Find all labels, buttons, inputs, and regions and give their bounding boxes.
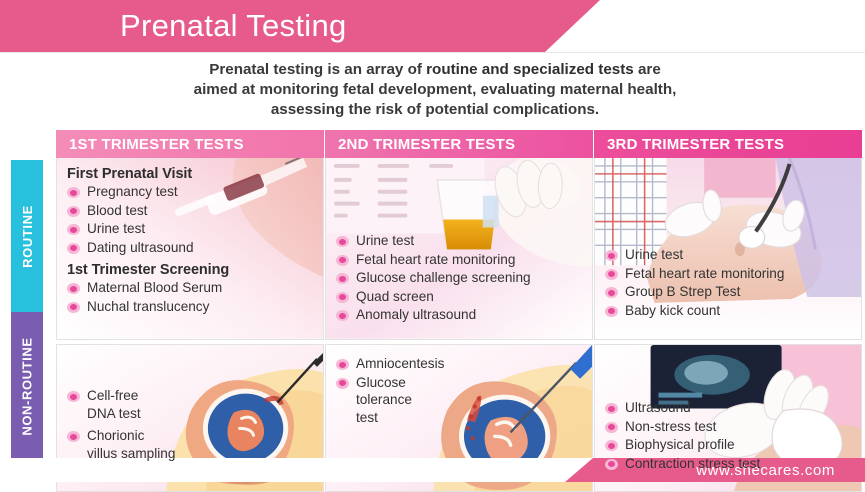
list-item-label: Blood test — [87, 203, 147, 218]
list-item: Quad screen — [336, 288, 592, 306]
page-header-banner: Prenatal Testing — [0, 0, 600, 52]
list-item-label: Pregnancy test — [87, 184, 178, 199]
column-second-trimester: 2ND TRIMESTER TESTS — [325, 130, 593, 492]
column-header-second-trimester: 2ND TRIMESTER TESTS — [325, 130, 593, 158]
list-item: Contraction stress test — [605, 455, 861, 473]
column-first-trimester: 1ST TRIMESTER TESTS F — [56, 130, 324, 492]
list-item: Fetal heart rate monitoring — [336, 251, 592, 269]
list-item-label: Dating ultrasound — [87, 240, 194, 255]
side-tab-non-routine: NON-ROUTINE — [11, 312, 43, 460]
list-item: Baby kick count — [605, 302, 861, 320]
group-title-first-prenatal-visit: First Prenatal Visit — [67, 166, 323, 182]
list-item: Blood test — [67, 202, 323, 220]
page-title: Prenatal Testing — [120, 8, 347, 44]
bullet-icon — [67, 224, 80, 235]
side-tab-non-routine-label: NON-ROUTINE — [20, 337, 35, 435]
list-item-label: Fetal heart rate monitoring — [625, 266, 784, 281]
bullet-icon — [605, 306, 618, 317]
list-item-label: Amniocentesis — [356, 356, 444, 371]
list-item: Glucose challenge screening — [336, 269, 592, 287]
bullet-icon — [67, 302, 80, 313]
list-item-label: Nuchal translucency — [87, 299, 209, 314]
bullet-icon — [67, 206, 80, 217]
list-item-label: Urine test — [356, 233, 414, 248]
list-item-label: Non-stress test — [625, 419, 716, 434]
bullet-icon — [605, 287, 618, 298]
list-item-label: Anomaly ultrasound — [356, 307, 476, 322]
bullet-icon — [336, 236, 349, 247]
bullet-icon — [336, 359, 349, 370]
bullet-icon — [67, 431, 80, 442]
group-title-first-trimester-screening: 1st Trimester Screening — [67, 262, 323, 278]
header-divider — [0, 52, 865, 53]
list-item-label-line2: tolerance — [356, 391, 592, 409]
list-item-label: Fetal heart rate monitoring — [356, 252, 515, 267]
column-header-third-trimester: 3RD TRIMESTER TESTS — [594, 130, 862, 158]
side-tab-routine-label: ROUTINE — [20, 205, 35, 268]
bullet-icon — [605, 250, 618, 261]
list-item: Pregnancy test — [67, 183, 323, 201]
list-item-label: Contraction stress test — [625, 456, 760, 471]
list-item-label: Baby kick count — [625, 303, 720, 318]
side-tab-routine: ROUTINE — [11, 160, 43, 312]
panel-third-trimester-non-routine: Ultrasound Non-stress test Biophysical p… — [594, 344, 862, 492]
bullet-icon — [336, 255, 349, 266]
bullet-icon — [605, 459, 618, 470]
intro-text-part1: Prenatal testing is an array of — [209, 61, 426, 78]
list-item: Urine test — [605, 246, 861, 264]
bullet-icon — [336, 292, 349, 303]
bullet-icon — [336, 273, 349, 284]
intro-paragraph: Prenatal testing is an array of routine … — [70, 60, 800, 120]
list-item: Chorionicvillus sampling — [67, 427, 323, 462]
list-item-label: Glucose — [356, 375, 406, 390]
list-third-trimester-non-routine: Ultrasound Non-stress test Biophysical p… — [605, 399, 861, 472]
list-item-label: Quad screen — [356, 289, 434, 304]
list-item: Urine test — [67, 220, 323, 238]
list-item-label: Glucose challenge screening — [356, 270, 531, 285]
bullet-icon — [67, 187, 80, 198]
list-item-label: Chorionic — [87, 428, 144, 443]
bullet-icon — [605, 440, 618, 451]
intro-text-emphasis: routine and specialized tests — [426, 61, 634, 78]
list-item-label: Ultrasound — [625, 400, 691, 415]
list-third-trimester-routine: Urine test Fetal heart rate monitoring G… — [605, 246, 861, 319]
bullet-icon — [336, 378, 349, 389]
bullet-icon — [67, 283, 80, 294]
list-item-label: Urine test — [625, 247, 683, 262]
list-item-label: Group B Strep Test — [625, 284, 740, 299]
list-item-label: Cell-free — [87, 388, 138, 403]
panel-third-trimester-routine: Urine test Fetal heart rate monitoring G… — [594, 158, 862, 340]
list-item-label-line3: test — [356, 409, 592, 427]
intro-line2: aimed at monitoring fetal development, e… — [194, 81, 677, 98]
list-item: Non-stress test — [605, 418, 861, 436]
list-item: Nuchal translucency — [67, 298, 323, 316]
column-third-trimester: 3RD TRIMESTER TESTS — [594, 130, 862, 492]
intro-line3: assessing the risk of potential complica… — [271, 101, 599, 118]
bullet-icon — [67, 243, 80, 254]
list-second-trimester-routine: Urine test Fetal heart rate monitoring G… — [336, 232, 592, 324]
bullet-icon — [605, 403, 618, 414]
bullet-icon — [67, 391, 80, 402]
list-item: Anomaly ultrasound — [336, 306, 592, 324]
list-first-prenatal-visit: Pregnancy test Blood test Urine test Dat… — [67, 183, 323, 256]
list-item-label: Maternal Blood Serum — [87, 280, 222, 295]
panel-first-trimester-routine: First Prenatal Visit Pregnancy test Bloo… — [56, 158, 324, 340]
list-item: Cell-freeDNA test — [67, 387, 323, 422]
list-item: Fetal heart rate monitoring — [605, 265, 861, 283]
list-item-label: Biophysical profile — [625, 437, 735, 452]
list-first-trimester-non-routine: Cell-freeDNA test Chorionicvillus sampli… — [67, 387, 323, 462]
list-item-label: Urine test — [87, 221, 145, 236]
intro-text-part2: are — [634, 61, 661, 78]
list-item: Dating ultrasound — [67, 239, 323, 257]
list-item-label-line2: DNA test — [87, 405, 323, 423]
list-item: Urine test — [336, 232, 592, 250]
list-item: Amniocentesis — [336, 355, 592, 373]
list-first-trimester-screening: Maternal Blood Serum Nuchal translucency — [67, 279, 323, 315]
list-item-label-line2: villus sampling — [87, 445, 323, 463]
list-item: Biophysical profile — [605, 436, 861, 454]
list-item: Glucosetolerancetest — [336, 374, 592, 427]
list-item: Group B Strep Test — [605, 283, 861, 301]
list-item: Maternal Blood Serum — [67, 279, 323, 297]
panel-second-trimester-routine: Urine test Fetal heart rate monitoring G… — [325, 158, 593, 340]
bullet-icon — [336, 310, 349, 321]
bullet-icon — [605, 422, 618, 433]
bullet-icon — [605, 269, 618, 280]
column-header-first-trimester: 1ST TRIMESTER TESTS — [56, 130, 324, 158]
list-item: Ultrasound — [605, 399, 861, 417]
list-second-trimester-non-routine: Amniocentesis Glucosetolerancetest — [336, 355, 592, 426]
